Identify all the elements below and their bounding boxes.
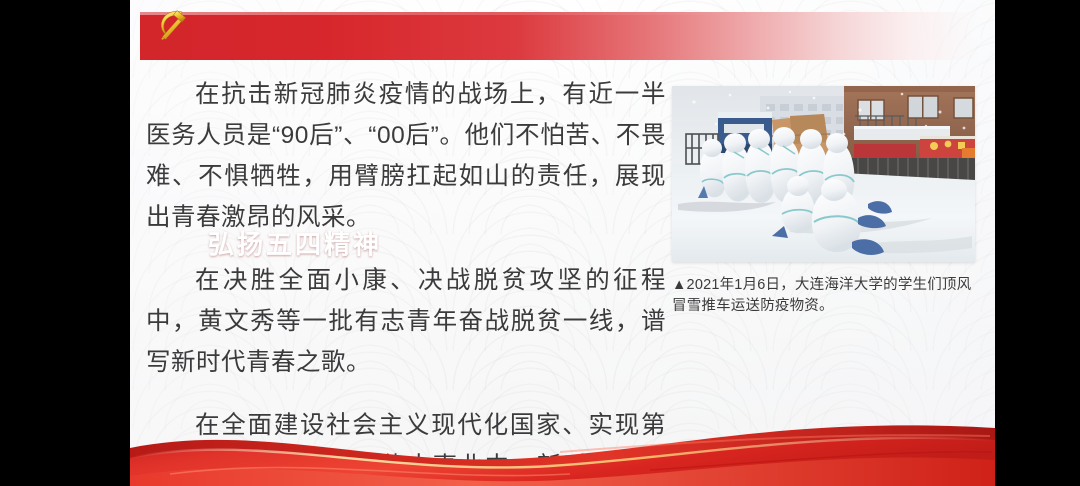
slide-stage: 弘扬五四精神 在抗击新冠肺炎疫情的战场上，有近一半医务人员是“90后”、“00后…: [0, 0, 1080, 486]
page-title: 弘扬五四精神: [208, 225, 382, 262]
slide-card: 弘扬五四精神 在抗击新冠肺炎疫情的战场上，有近一半医务人员是“90后”、“00后…: [130, 0, 995, 486]
red-silk-wave-ribbon: [130, 414, 995, 486]
cpc-hammer-sickle-emblem-icon: [154, 7, 190, 41]
paragraph-2: 在决胜全面小康、决战脱贫攻坚的征程中，黄文秀等一批有志青年奋战脱贫一线，谱写新时…: [146, 260, 666, 383]
header-banner: [140, 12, 995, 60]
paragraph-1: 在抗击新冠肺炎疫情的战场上，有近一半医务人员是“90后”、“00后”。他们不怕苦…: [146, 74, 666, 238]
letterbox-right: [995, 0, 1080, 486]
photo-block: ▲2021年1月6日，大连海洋大学的学生们顶风冒雪推车运送防疫物资。: [672, 86, 975, 317]
news-photo: [672, 86, 975, 262]
letterbox-left: [0, 0, 130, 486]
photo-caption: ▲2021年1月6日，大连海洋大学的学生们顶风冒雪推车运送防疫物资。: [672, 275, 975, 317]
